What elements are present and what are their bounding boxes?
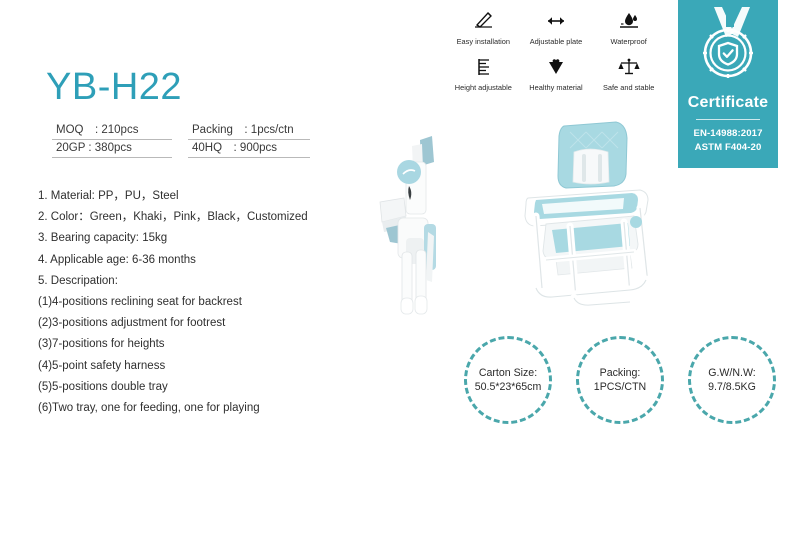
icon-label: Easy installation [457, 37, 510, 46]
feature-icon-grid: Easy installation Adjustable plate Water… [447, 8, 665, 92]
safe-and-stable-icon [617, 54, 641, 80]
circle-label: G.W/N.W: [708, 366, 755, 381]
feature-list: 1. Material: PP，PU，Steel 2. Color：Green，… [38, 186, 368, 419]
spec-table: MOQ : 210pcs Packing : 1pcs/ctn 20GP : 3… [52, 122, 312, 158]
description-item: (5)5-positions double tray [38, 377, 368, 398]
circle-value: 9.7/8.5KG [708, 380, 756, 395]
circle-label: Carton Size: [479, 366, 537, 381]
page-title: YB-H22 [46, 68, 182, 106]
circle-value: 1PCS/CTN [594, 380, 646, 395]
circle-value: 50.5*23*65cm [475, 380, 542, 395]
easy-installation-icon [471, 8, 495, 34]
info-circle-row: Carton Size: 50.5*23*65cm Packing: 1PCS/… [464, 336, 780, 428]
icon-label: Safe and stable [603, 83, 654, 92]
feature-icon-safe-and-stable: Safe and stable [592, 54, 665, 92]
icon-label: Healthy material [529, 83, 582, 92]
info-circle-gross-net-weight: G.W/N.W: 9.7/8.5KG [688, 336, 776, 424]
product-photo-upright-highchair [512, 112, 666, 320]
height-adjustable-icon [472, 54, 494, 80]
spec-moq: MOQ : 210pcs [52, 122, 172, 140]
adjustable-plate-icon [543, 8, 569, 34]
table-row: 20GP : 380pcs 40HQ : 900pcs [52, 140, 312, 158]
certificate-panel: Certificate EN-14988:2017 ASTM F404-20 [678, 0, 778, 168]
certificate-code-en: EN-14988:2017 [693, 127, 762, 141]
healthy-material-icon [545, 54, 567, 80]
feature-icon-healthy-material: Healthy material [520, 54, 593, 92]
spec-20gp: 20GP : 380pcs [52, 140, 172, 158]
product-photo-folded-highchair [376, 132, 484, 320]
feature-icon-adjustable-plate: Adjustable plate [520, 8, 593, 46]
icon-label: Height adjustable [455, 83, 512, 92]
waterproof-icon [617, 8, 641, 34]
circle-label: Packing: [600, 366, 641, 381]
feature-icon-waterproof: Waterproof [592, 8, 665, 46]
info-circle-packing: Packing: 1PCS/CTN [576, 336, 664, 424]
feature-icon-easy-installation: Easy installation [447, 8, 520, 46]
feature-material: 1. Material: PP，PU，Steel [38, 186, 368, 207]
description-item: (2)3-positions adjustment for footrest [38, 313, 368, 334]
table-row: MOQ : 210pcs Packing : 1pcs/ctn [52, 122, 312, 140]
icon-label: Waterproof [611, 37, 647, 46]
feature-color: 2. Color：Green，Khaki，Pink，Black，Customiz… [38, 207, 368, 228]
icon-label: Adjustable plate [530, 37, 583, 46]
feature-description-heading: 5. Descripation: [38, 271, 368, 292]
description-item: (4)5-point safety harness [38, 356, 368, 377]
certificate-divider [696, 119, 760, 120]
feature-bearing-capacity: 3. Bearing capacity: 15kg [38, 228, 368, 249]
feature-icon-height-adjustable: Height adjustable [447, 54, 520, 92]
description-item: (1)4-positions reclining seat for backre… [38, 292, 368, 313]
feature-applicable-age: 4. Applicable age: 6-36 months [38, 250, 368, 271]
spec-40hq: 40HQ : 900pcs [188, 140, 310, 158]
certificate-code-astm: ASTM F404-20 [695, 141, 762, 155]
info-circle-carton-size: Carton Size: 50.5*23*65cm [464, 336, 552, 424]
description-item: (6)Two tray, one for feeding, one for pl… [38, 398, 368, 419]
medal-award-icon [688, 7, 768, 88]
description-item: (3)7-positions for heights [38, 334, 368, 355]
certificate-title: Certificate [688, 94, 768, 112]
spec-packing: Packing : 1pcs/ctn [188, 122, 310, 140]
